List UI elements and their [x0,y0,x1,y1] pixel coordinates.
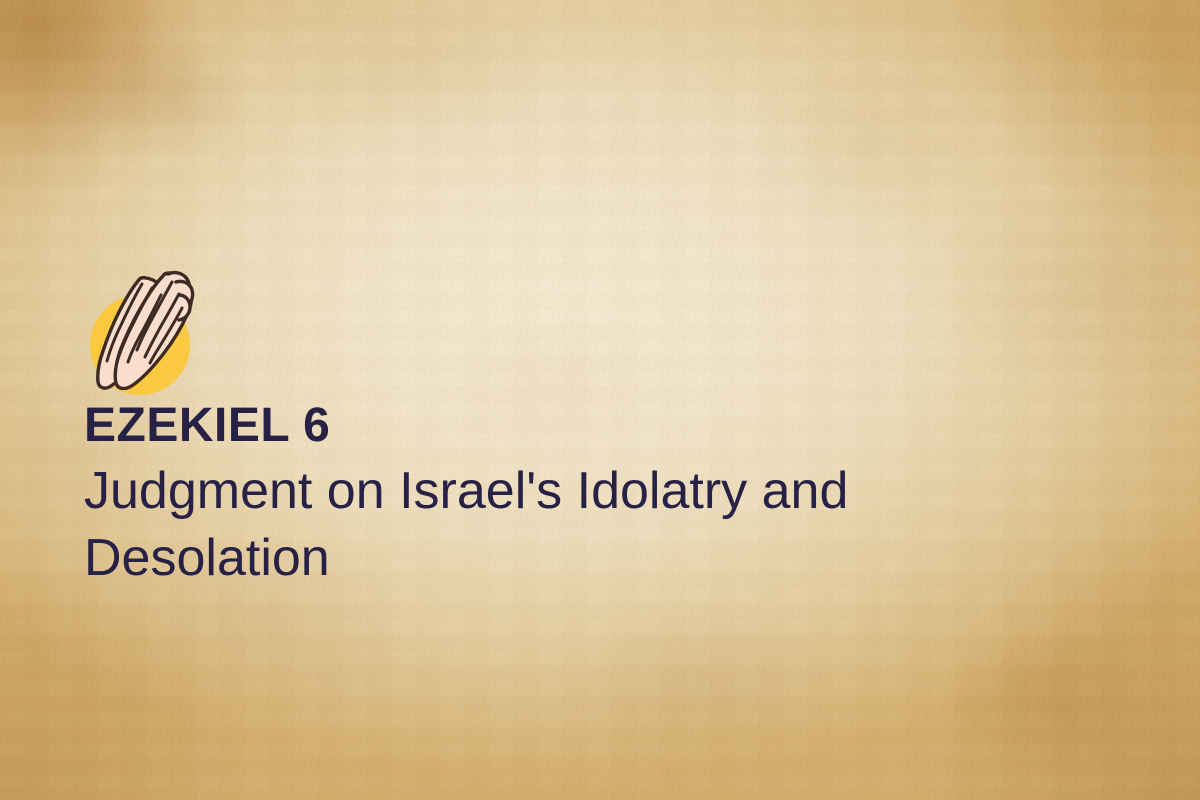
scripture-title-card: EZEKIEL 6 Judgment on Israel's Idolatry … [0,0,1200,800]
emoji-badge [84,262,208,390]
page-title: EZEKIEL 6 [84,400,1084,452]
praying-hands-icon [84,262,208,390]
title-block: EZEKIEL 6 Judgment on Israel's Idolatry … [84,262,1084,593]
chapter-subtitle: Judgment on Israel's Idolatry and Desola… [84,458,1084,593]
